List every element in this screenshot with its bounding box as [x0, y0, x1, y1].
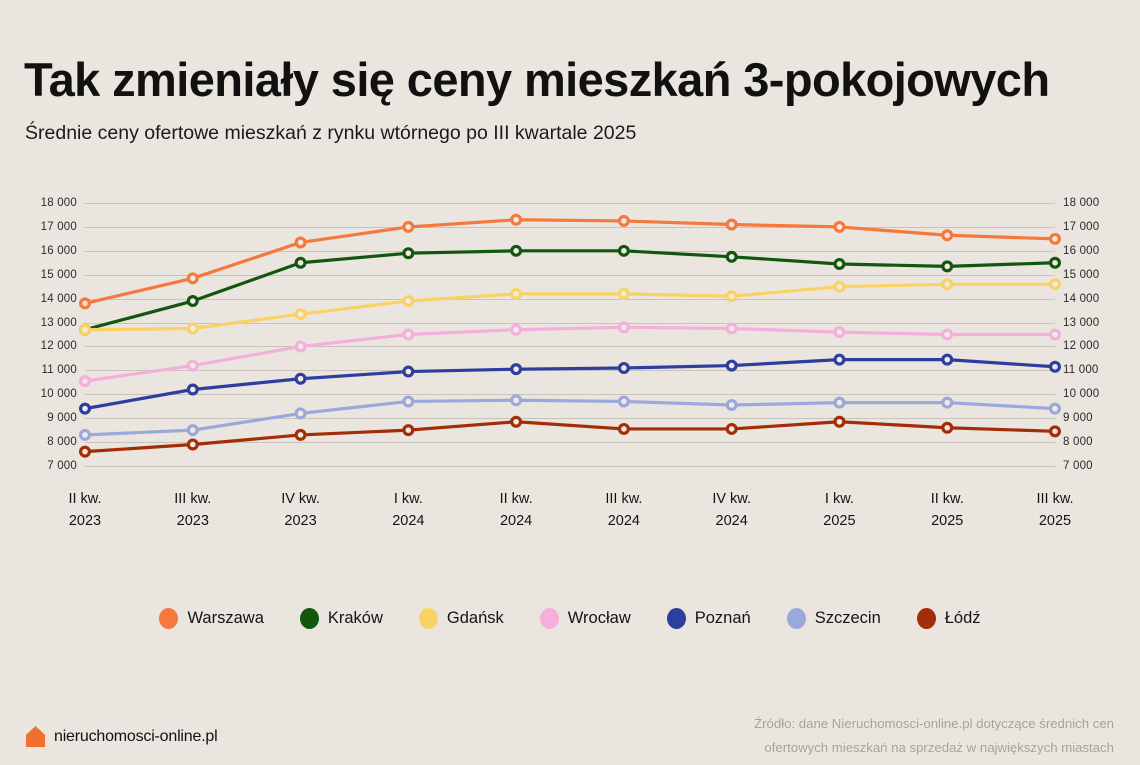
- series-kraków: [81, 246, 1060, 334]
- data-point[interactable]: [404, 297, 413, 306]
- data-point[interactable]: [835, 328, 844, 337]
- data-point[interactable]: [512, 396, 521, 405]
- series-lines: [85, 203, 1055, 466]
- y-axis-tick-right: 18 000: [1063, 197, 1099, 209]
- data-point[interactable]: [296, 258, 305, 267]
- data-point[interactable]: [943, 280, 952, 289]
- data-point[interactable]: [188, 426, 197, 435]
- x-axis-tick: IV kw.2023: [281, 488, 320, 532]
- legend-label: Wrocław: [568, 609, 631, 628]
- data-point[interactable]: [404, 223, 413, 232]
- data-point[interactable]: [404, 426, 413, 435]
- data-point[interactable]: [512, 246, 521, 255]
- x-axis-tick: III kw.2024: [605, 488, 642, 532]
- data-point[interactable]: [1051, 258, 1060, 267]
- data-point[interactable]: [835, 223, 844, 232]
- data-point[interactable]: [943, 423, 952, 432]
- brand-name: nieruchomosci-online.pl: [54, 728, 218, 746]
- house-icon: [26, 726, 45, 747]
- data-point[interactable]: [512, 215, 521, 224]
- y-axis-tick-right: 9 000: [1063, 412, 1093, 424]
- y-axis-tick-left: 15 000: [41, 269, 77, 281]
- x-tick-quarter: II kw.: [931, 488, 964, 510]
- y-axis-tick-left: 12 000: [41, 340, 77, 352]
- data-point[interactable]: [404, 397, 413, 406]
- data-point[interactable]: [727, 401, 736, 410]
- legend-item-warszawa[interactable]: Warszawa: [159, 608, 263, 629]
- data-point[interactable]: [619, 364, 628, 373]
- x-tick-quarter: III kw.: [605, 488, 642, 510]
- y-axis-tick-left: 9 000: [47, 412, 77, 424]
- series-line: [85, 422, 1055, 452]
- y-axis-tick-right: 10 000: [1063, 388, 1099, 400]
- data-point[interactable]: [619, 217, 628, 226]
- y-axis-tick-left: 13 000: [41, 317, 77, 329]
- data-point[interactable]: [1051, 404, 1060, 413]
- source-line-2: ofertowych mieszkań na sprzedaż w najwię…: [674, 736, 1114, 760]
- x-tick-year: 2023: [281, 510, 320, 532]
- x-tick-year: 2024: [500, 510, 533, 532]
- data-point[interactable]: [81, 404, 90, 413]
- legend-item-gdańsk[interactable]: Gdańsk: [419, 608, 504, 629]
- y-axis-tick-left: 8 000: [47, 436, 77, 448]
- data-point[interactable]: [835, 398, 844, 407]
- data-point[interactable]: [943, 231, 952, 240]
- page-title: Tak zmieniały się ceny mieszkań 3-pokojo…: [24, 52, 1049, 108]
- data-point[interactable]: [727, 220, 736, 229]
- data-point[interactable]: [512, 417, 521, 426]
- data-point[interactable]: [296, 310, 305, 319]
- data-point[interactable]: [727, 361, 736, 370]
- data-point[interactable]: [943, 398, 952, 407]
- legend-color-swatch: [159, 608, 178, 629]
- data-point[interactable]: [188, 361, 197, 370]
- chart-legend: WarszawaKrakówGdańskWrocławPoznańSzczeci…: [0, 600, 1140, 636]
- x-tick-year: 2023: [68, 510, 101, 532]
- data-point[interactable]: [619, 397, 628, 406]
- x-axis-tick: I kw.2025: [823, 488, 855, 532]
- x-tick-quarter: IV kw.: [712, 488, 751, 510]
- y-axis-tick-left: 11 000: [41, 364, 77, 376]
- legend-color-swatch: [917, 608, 936, 629]
- x-tick-quarter: II kw.: [500, 488, 533, 510]
- x-tick-quarter: II kw.: [68, 488, 101, 510]
- data-point[interactable]: [619, 425, 628, 434]
- legend-label: Poznań: [695, 609, 751, 628]
- x-tick-year: 2023: [174, 510, 211, 532]
- legend-item-kraków[interactable]: Kraków: [300, 608, 383, 629]
- x-tick-quarter: IV kw.: [281, 488, 320, 510]
- legend-color-swatch: [300, 608, 319, 629]
- data-point[interactable]: [943, 355, 952, 364]
- data-point[interactable]: [835, 355, 844, 364]
- y-axis-tick-right: 8 000: [1063, 436, 1093, 448]
- data-point[interactable]: [188, 440, 197, 449]
- series-szczecin: [81, 396, 1060, 439]
- series-line: [85, 327, 1055, 381]
- data-point[interactable]: [188, 385, 197, 394]
- series-line: [85, 284, 1055, 329]
- y-axis-tick-right: 16 000: [1063, 245, 1099, 257]
- data-point[interactable]: [512, 365, 521, 374]
- data-point[interactable]: [188, 324, 197, 333]
- x-tick-year: 2024: [712, 510, 751, 532]
- data-point[interactable]: [835, 417, 844, 426]
- data-point[interactable]: [835, 260, 844, 269]
- data-point[interactable]: [404, 330, 413, 339]
- data-point[interactable]: [943, 330, 952, 339]
- legend-label: Szczecin: [815, 609, 881, 628]
- x-tick-year: 2025: [1036, 510, 1073, 532]
- data-point[interactable]: [81, 299, 90, 308]
- legend-item-poznań[interactable]: Poznań: [667, 608, 751, 629]
- x-axis-tick: II kw.2024: [500, 488, 533, 532]
- legend-label: Łódź: [945, 609, 981, 628]
- legend-color-swatch: [787, 608, 806, 629]
- plot-area: [85, 203, 1055, 466]
- data-point[interactable]: [296, 238, 305, 247]
- legend-item-wrocław[interactable]: Wrocław: [540, 608, 631, 629]
- data-point[interactable]: [619, 323, 628, 332]
- x-tick-quarter: III kw.: [174, 488, 211, 510]
- x-tick-year: 2024: [605, 510, 642, 532]
- x-tick-quarter: I kw.: [392, 488, 424, 510]
- y-axis-tick-right: 12 000: [1063, 340, 1099, 352]
- y-axis-tick-left: 16 000: [41, 245, 77, 257]
- data-point[interactable]: [296, 431, 305, 440]
- y-axis-tick-right: 7 000: [1063, 460, 1093, 472]
- x-axis-tick: II kw.2023: [68, 488, 101, 532]
- series-line: [85, 400, 1055, 435]
- y-axis-tick-right: 17 000: [1063, 221, 1099, 233]
- legend-label: Warszawa: [187, 609, 263, 628]
- data-point[interactable]: [1051, 362, 1060, 371]
- series-poznań: [81, 355, 1060, 413]
- x-tick-quarter: I kw.: [823, 488, 855, 510]
- brand-logo[interactable]: nieruchomosci-online.pl: [26, 726, 218, 747]
- data-point[interactable]: [512, 325, 521, 334]
- data-point[interactable]: [81, 431, 90, 440]
- data-point[interactable]: [296, 374, 305, 383]
- y-axis-tick-left: 18 000: [41, 197, 77, 209]
- x-tick-year: 2024: [392, 510, 424, 532]
- data-point[interactable]: [727, 252, 736, 261]
- series-line: [85, 251, 1055, 330]
- data-point[interactable]: [727, 425, 736, 434]
- data-point[interactable]: [1051, 280, 1060, 289]
- x-axis-labels: II kw.2023III kw.2023IV kw.2023I kw.2024…: [0, 488, 1140, 543]
- legend-color-swatch: [540, 608, 559, 629]
- series-wrocław: [81, 323, 1060, 386]
- data-point[interactable]: [81, 447, 90, 456]
- y-axis-tick-right: 11 000: [1063, 364, 1099, 376]
- data-point[interactable]: [81, 325, 90, 334]
- x-tick-quarter: III kw.: [1036, 488, 1073, 510]
- data-point[interactable]: [619, 246, 628, 255]
- y-axis-tick-left: 7 000: [47, 460, 77, 472]
- y-axis-tick-right: 13 000: [1063, 317, 1099, 329]
- data-point[interactable]: [512, 289, 521, 298]
- legend-item-łódź[interactable]: Łódź: [917, 608, 981, 629]
- legend-color-swatch: [419, 608, 438, 629]
- y-axis-tick-right: 14 000: [1063, 293, 1099, 305]
- x-axis-tick: I kw.2024: [392, 488, 424, 532]
- y-axis-tick-right: 15 000: [1063, 269, 1099, 281]
- y-axis-tick-left: 17 000: [41, 221, 77, 233]
- legend-label: Kraków: [328, 609, 383, 628]
- data-point[interactable]: [835, 282, 844, 291]
- data-point[interactable]: [188, 274, 197, 283]
- legend-color-swatch: [667, 608, 686, 629]
- legend-label: Gdańsk: [447, 609, 504, 628]
- x-axis-tick: II kw.2025: [931, 488, 964, 532]
- x-axis-tick: IV kw.2024: [712, 488, 751, 532]
- data-point[interactable]: [727, 324, 736, 333]
- data-point[interactable]: [619, 289, 628, 298]
- legend-item-szczecin[interactable]: Szczecin: [787, 608, 881, 629]
- data-point[interactable]: [296, 409, 305, 418]
- chart-page: Tak zmieniały się ceny mieszkań 3-pokojo…: [0, 0, 1140, 765]
- data-point[interactable]: [404, 249, 413, 258]
- y-axis-tick-left: 14 000: [41, 293, 77, 305]
- series-line: [85, 220, 1055, 304]
- chart-container: 18 00017 00016 00015 00014 00013 00012 0…: [0, 190, 1140, 480]
- data-point[interactable]: [188, 297, 197, 306]
- gridline: [85, 466, 1055, 467]
- x-tick-year: 2025: [823, 510, 855, 532]
- data-point[interactable]: [1051, 234, 1060, 243]
- x-axis-tick: III kw.2025: [1036, 488, 1073, 532]
- data-point[interactable]: [1051, 330, 1060, 339]
- data-point[interactable]: [404, 367, 413, 376]
- page-subtitle: Średnie ceny ofertowe mieszkań z rynku w…: [25, 120, 636, 146]
- data-point[interactable]: [81, 377, 90, 386]
- source-note: Źródło: dane Nieruchomosci-online.pl dot…: [674, 712, 1114, 760]
- y-axis-tick-left: 10 000: [41, 388, 77, 400]
- x-tick-year: 2025: [931, 510, 964, 532]
- data-point[interactable]: [727, 292, 736, 301]
- data-point[interactable]: [943, 262, 952, 271]
- data-point[interactable]: [1051, 427, 1060, 436]
- x-axis-tick: III kw.2023: [174, 488, 211, 532]
- data-point[interactable]: [296, 342, 305, 351]
- source-line-1: Źródło: dane Nieruchomosci-online.pl dot…: [674, 712, 1114, 736]
